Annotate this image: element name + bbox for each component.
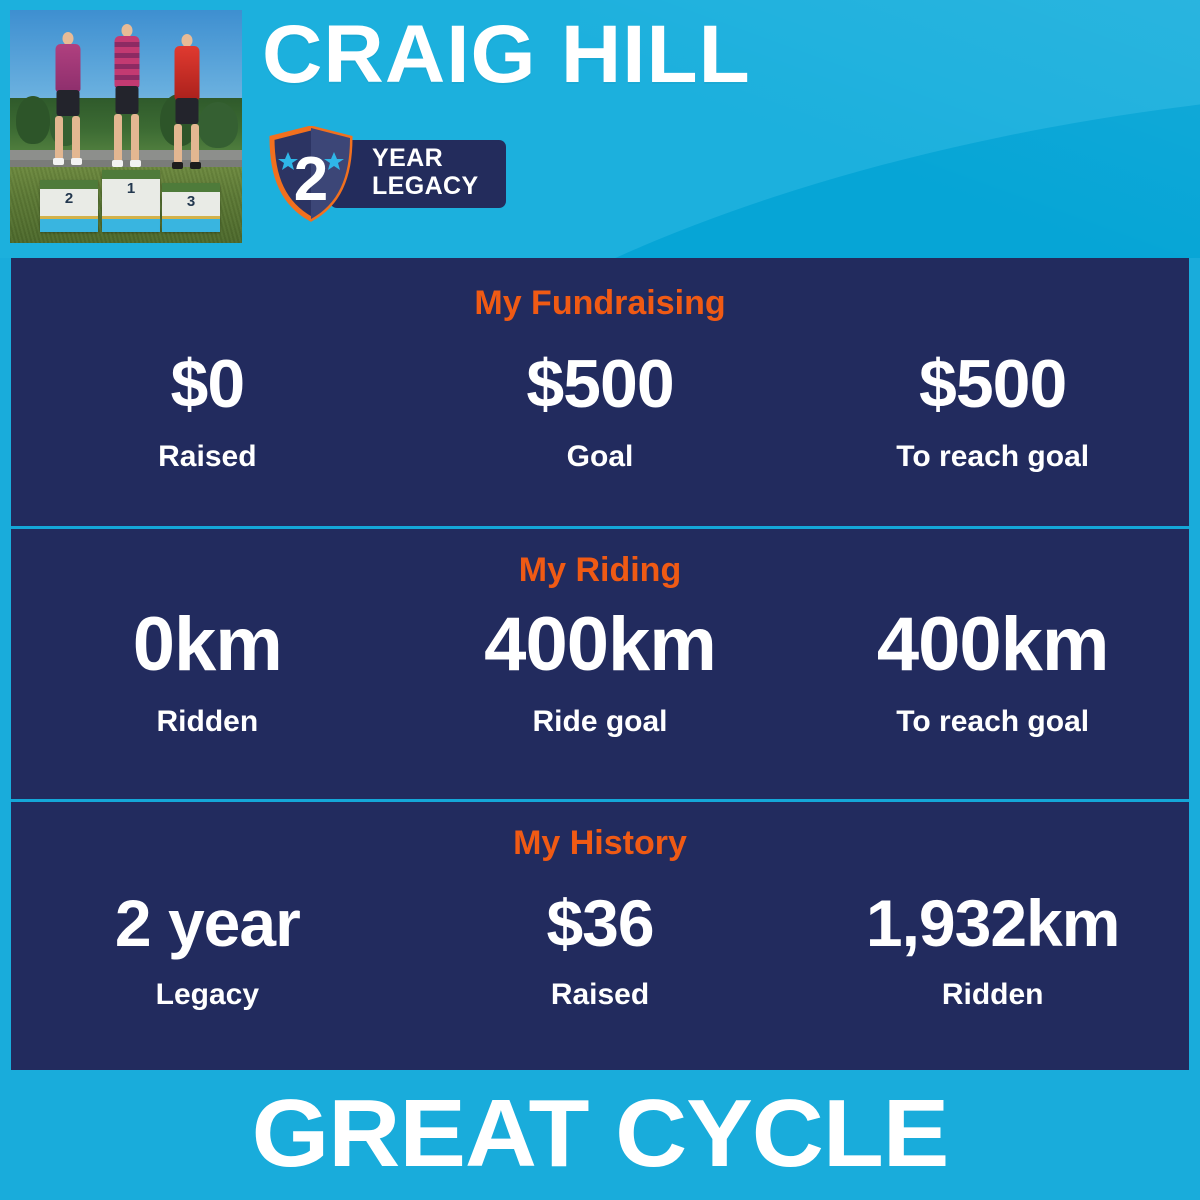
stat-label: Raised [404, 978, 797, 1012]
podium-label: 2 [40, 190, 98, 207]
page-title: CRAIG HILL [262, 14, 751, 96]
section-title: My History [11, 824, 1189, 863]
legacy-badge-line2: LEGACY [372, 172, 479, 200]
stat-legacy: 2 year Legacy [11, 890, 404, 1012]
stat-label: Ridden [796, 978, 1189, 1012]
stat-history-raised: $36 Raised [404, 890, 797, 1012]
stat-goal: $500 Goal [404, 350, 797, 474]
section-riding: My Riding 0km Ridden 400km Ride goal 400… [11, 529, 1189, 799]
poster-header: 2 1 3 CRAIG HILL [0, 0, 1200, 258]
tree-icon [16, 96, 50, 144]
poster-footer: GREAT CYCLE CHALLENGE [0, 1070, 1200, 1200]
stat-value: $36 [404, 890, 797, 956]
rider-figure [168, 34, 206, 184]
legacy-badge-line1: YEAR [372, 144, 479, 172]
stat-value: $0 [11, 350, 404, 418]
podium-block: 3 [162, 183, 220, 232]
podium-label: 1 [102, 180, 160, 197]
stat-to-reach-goal: $500 To reach goal [796, 350, 1189, 474]
rider-figure [50, 32, 86, 182]
campaign-poster: 2 1 3 CRAIG HILL [0, 0, 1200, 1200]
section-fundraising: My Fundraising $0 Raised $500 Goal $500 … [11, 258, 1189, 526]
section-title: My Riding [11, 551, 1189, 590]
stat-label: To reach goal [796, 705, 1189, 739]
stats-panel: My Fundraising $0 Raised $500 Goal $500 … [11, 258, 1189, 1070]
stat-ridden: 0km Ridden [11, 607, 404, 739]
section-history: My History 2 year Legacy $36 Raised 1,93… [11, 802, 1189, 1070]
stat-value: 1,932km [796, 890, 1189, 956]
stat-label: Goal [404, 440, 797, 474]
stat-label: Ridden [11, 705, 404, 739]
stat-ride-goal: 400km Ride goal [404, 607, 797, 739]
rider-photo: 2 1 3 [10, 10, 242, 243]
stat-value: 0km [11, 607, 404, 683]
stat-label: To reach goal [796, 440, 1189, 474]
legacy-badge-text: YEAR LEGACY [372, 144, 479, 200]
stat-label: Legacy [11, 978, 404, 1012]
stat-value: 400km [796, 607, 1189, 683]
stat-history-ridden: 1,932km Ridden [796, 890, 1189, 1012]
stat-value: $500 [404, 350, 797, 418]
brand-wordmark: GREAT CYCLE CHALLENGE [0, 1082, 1200, 1200]
stat-to-reach-ride-goal: 400km To reach goal [796, 607, 1189, 739]
podium-block: 1 [102, 170, 160, 232]
shield-icon: 2 [268, 126, 354, 222]
legacy-year-number: 2 [294, 145, 328, 214]
stat-value: 400km [404, 607, 797, 683]
rider-figure [108, 24, 146, 186]
stat-raised: $0 Raised [11, 350, 404, 474]
stat-value: $500 [796, 350, 1189, 418]
podium-label: 3 [162, 193, 220, 210]
section-title: My Fundraising [11, 284, 1189, 323]
stat-label: Raised [11, 440, 404, 474]
legacy-badge: 2 YEAR LEGACY [268, 126, 506, 222]
stat-label: Ride goal [404, 705, 797, 739]
podium-block: 2 [40, 180, 98, 232]
stat-value: 2 year [11, 890, 404, 956]
